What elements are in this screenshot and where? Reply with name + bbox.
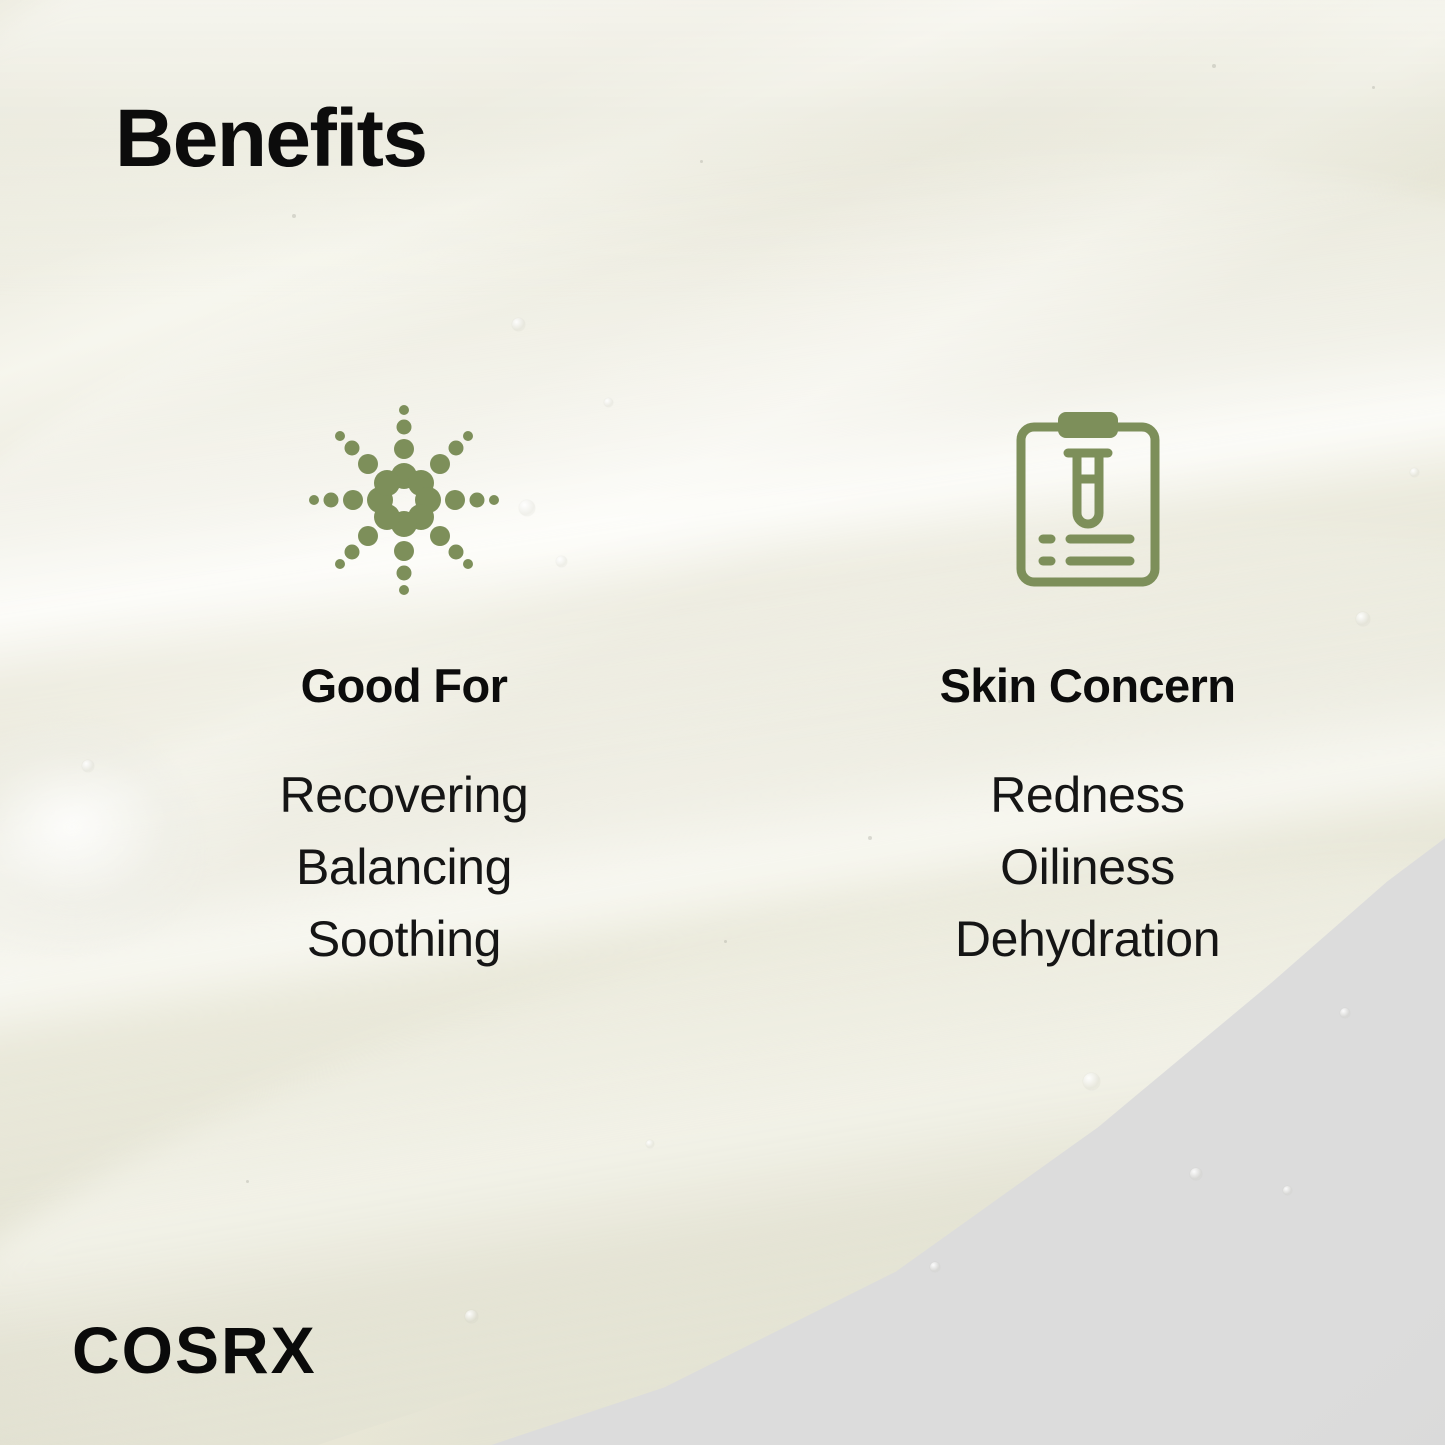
- good-for-list: Recovering Balancing Soothing: [280, 759, 529, 975]
- brand-logo: COSRX: [72, 1317, 317, 1383]
- benefit-column-good-for: Good For Recovering Balancing Soothing: [0, 400, 720, 975]
- benefits-infographic: Benefits: [0, 0, 1445, 1445]
- column-heading-good-for: Good For: [301, 662, 508, 709]
- list-item: Oiliness: [955, 831, 1220, 903]
- benefit-column-skin-concern: Skin Concern Redness Oiliness Dehydratio…: [720, 400, 1445, 975]
- list-item: Balancing: [280, 831, 529, 903]
- column-heading-skin-concern: Skin Concern: [940, 662, 1236, 709]
- sparkle-burst-icon: [304, 400, 504, 600]
- list-item: Soothing: [280, 903, 529, 975]
- list-item: Dehydration: [955, 903, 1220, 975]
- list-item: Recovering: [280, 759, 529, 831]
- benefits-columns: Good For Recovering Balancing Soothing: [0, 400, 1445, 975]
- clipboard-test-tube-icon: [1012, 400, 1164, 600]
- skin-concern-list: Redness Oiliness Dehydration: [955, 759, 1220, 975]
- list-item: Redness: [955, 759, 1220, 831]
- page-title: Benefits: [115, 98, 427, 180]
